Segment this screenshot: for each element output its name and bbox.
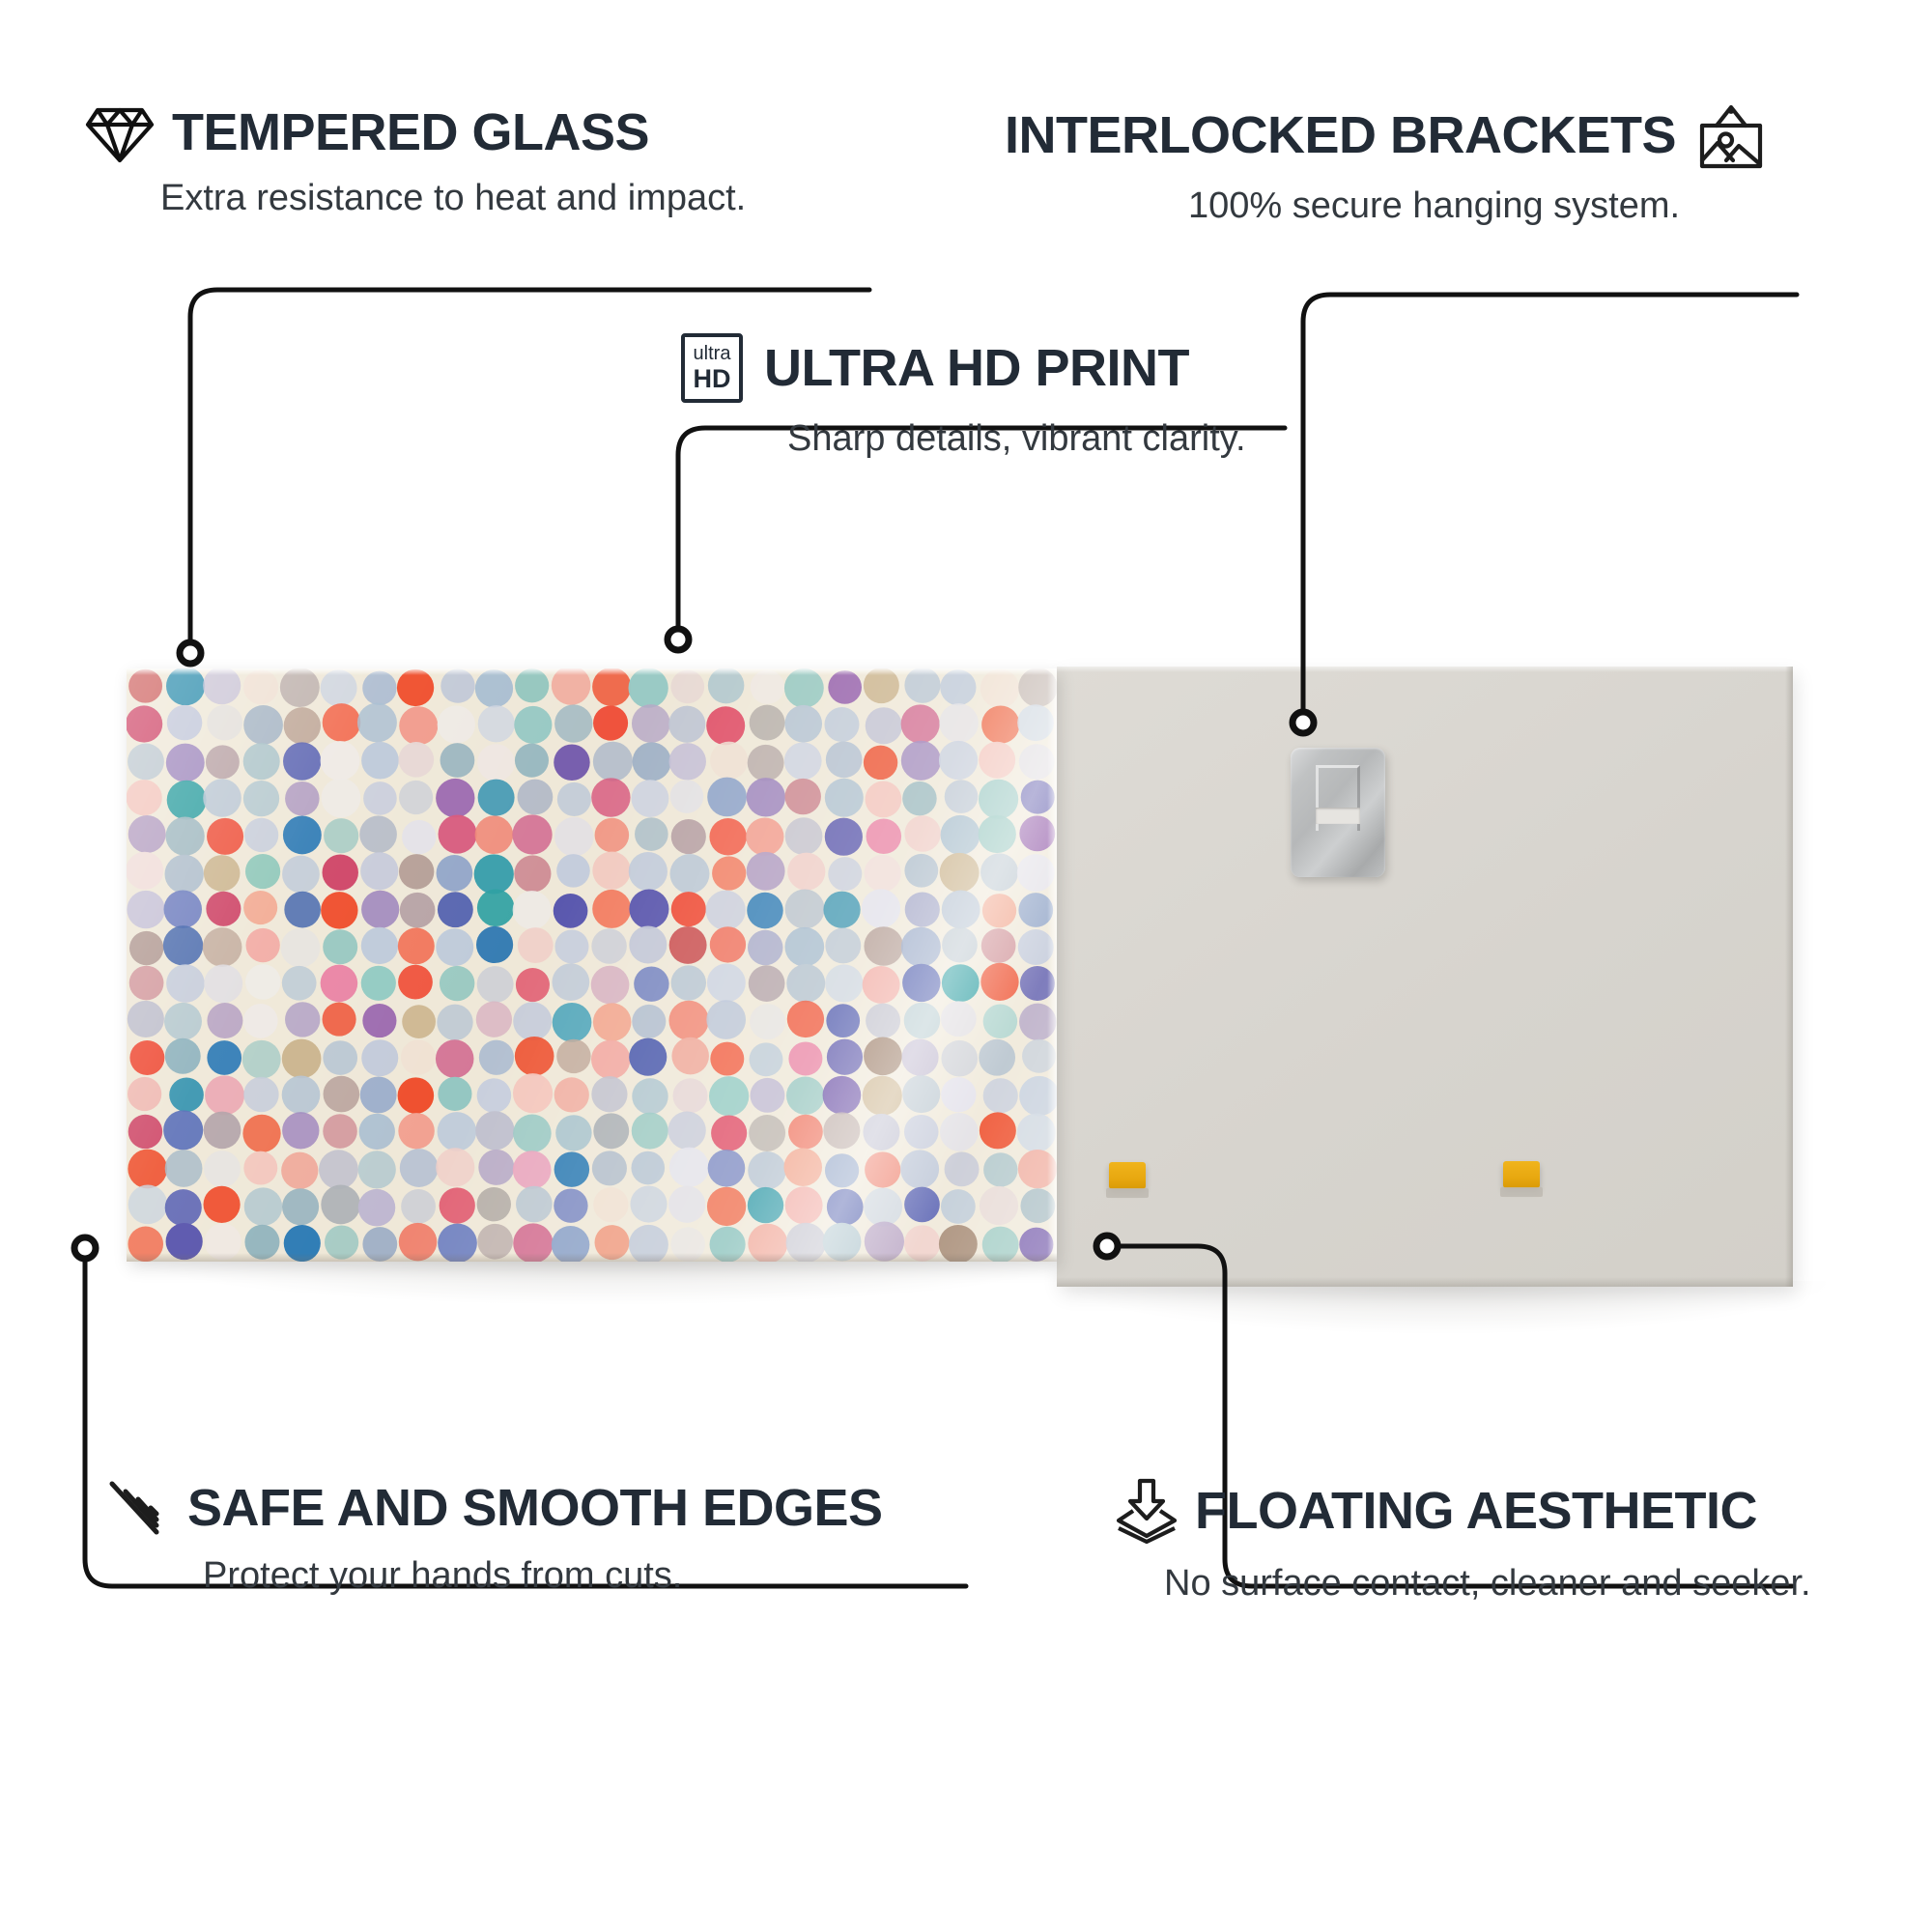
diagonal-edge-lines-icon: [106, 1478, 170, 1538]
printed-tempered-glass-panel: [127, 668, 1057, 1262]
back-panel-right-edge: [1785, 667, 1793, 1287]
feature-ultra-hd-print-subtitle: Sharp details, vibrant clarity.: [787, 418, 1246, 461]
product-illustration: [0, 0, 1932, 1932]
feature-floating-aesthetic: FLOATING AESTHETIC No surface contact, c…: [1116, 1478, 1811, 1605]
feature-interlocked-brackets-head: INTERLOCKED BRACKETS: [1005, 100, 1769, 170]
glass-top-edge: [127, 668, 1057, 675]
wall-spacer-pad-left: [1109, 1162, 1146, 1189]
ultra-hd-badge-line1: ultra: [694, 344, 731, 363]
glass-panel-back-side: [1057, 667, 1793, 1287]
feature-safe-and-smooth-edges-title: SAFE AND SMOOTH EDGES: [187, 1482, 883, 1534]
back-panel-top-edge: [1057, 667, 1793, 672]
feature-interlocked-brackets-subtitle: 100% secure hanging system.: [1188, 185, 1769, 228]
bracket-slot-hole: [1316, 808, 1360, 824]
diamond-icon: [85, 100, 155, 164]
feature-ultra-hd-print-head: ultra HD ULTRA HD PRINT: [681, 333, 1246, 403]
feature-tempered-glass-title: TEMPERED GLASS: [172, 106, 649, 158]
feature-safe-and-smooth-edges-subtitle: Protect your hands from cuts.: [203, 1555, 883, 1598]
back-panel-bottom-edge: [1057, 1277, 1793, 1287]
feature-tempered-glass-subtitle: Extra resistance to heat and impact.: [160, 178, 746, 220]
front-panel-shadow: [135, 1256, 1072, 1304]
glass-right-edge: [1047, 668, 1057, 1262]
feature-interlocked-brackets: INTERLOCKED BRACKETS 100% secure hanging…: [1005, 100, 1769, 228]
wall-spacer-pad-right: [1503, 1161, 1540, 1188]
arrow-down-into-layers-icon: [1116, 1478, 1178, 1544]
interlocked-metal-bracket: [1291, 748, 1385, 877]
feature-interlocked-brackets-title: INTERLOCKED BRACKETS: [1005, 109, 1676, 161]
feature-tempered-glass: TEMPERED GLASS Extra resistance to heat …: [85, 100, 746, 220]
ultra-hd-badge-icon: ultra HD: [681, 333, 743, 403]
feature-ultra-hd-print-title: ULTRA HD PRINT: [764, 342, 1189, 394]
glass-bottom-edge: [127, 1253, 1057, 1262]
feature-safe-and-smooth-edges-head: SAFE AND SMOOTH EDGES: [106, 1478, 883, 1538]
hanging-picture-frame-icon: [1693, 100, 1769, 170]
feature-tempered-glass-head: TEMPERED GLASS: [85, 100, 746, 164]
back-panel-shadow: [1063, 1281, 1826, 1333]
feature-safe-and-smooth-edges: SAFE AND SMOOTH EDGES Protect your hands…: [106, 1478, 883, 1598]
feature-floating-aesthetic-subtitle: No surface contact, cleaner and seeker.: [1164, 1563, 1811, 1605]
ultra-hd-badge-line2: HD: [694, 366, 731, 392]
feature-floating-aesthetic-head: FLOATING AESTHETIC: [1116, 1478, 1811, 1544]
glass-gloss-reflection: [127, 668, 1057, 1262]
feature-ultra-hd-print: ultra HD ULTRA HD PRINT Sharp details, v…: [681, 333, 1246, 461]
feature-floating-aesthetic-title: FLOATING AESTHETIC: [1195, 1485, 1757, 1537]
